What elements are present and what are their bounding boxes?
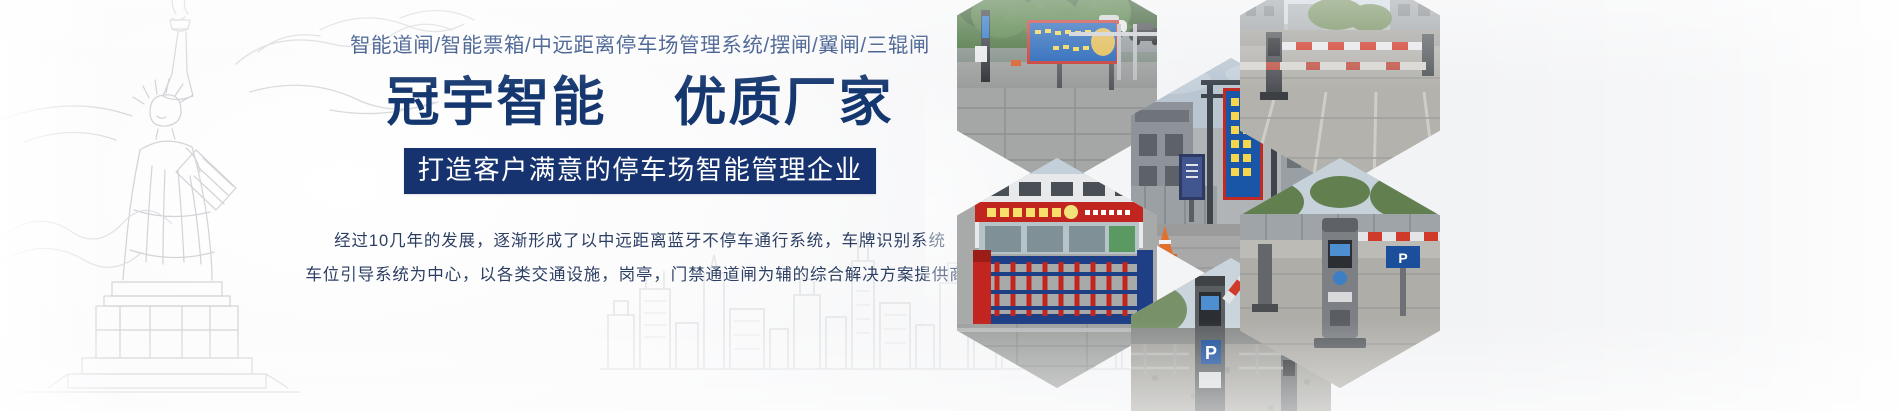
- banner-headline: 冠宇智能 优质厂家: [387, 75, 894, 131]
- banner-paragraph: 经过10几年的发展，逐渐形成了以中远距离蓝牙不停车通行系统，车牌识别系统 车位引…: [309, 225, 970, 292]
- banner-copy-block: 智能道闸/智能票箱/中远距离停车场管理系统/摆闸/翼闸/三辊闸 冠宇智能 优质厂…: [330, 34, 950, 314]
- paragraph-line-1: 经过10几年的发展，逐渐形成了以中远距离蓝牙不停车通行系统，车牌识别系统: [309, 225, 970, 258]
- hexagon-photo-collage: P: [935, 0, 1455, 411]
- svg-text:P: P: [1398, 250, 1407, 266]
- paragraph-line-2: 车位引导系统为中心，以各类交通设施，岗亭，门禁通道闸为辅的综合解决方案提供商: [305, 259, 966, 292]
- right-edge-fade: [1460, 0, 1900, 411]
- banner-eyebrow: 智能道闸/智能票箱/中远距离停车场管理系统/摆闸/翼闸/三辊闸: [350, 34, 930, 59]
- photo-guard-booth-red-blue: [957, 158, 1157, 388]
- headline-secondary: 优质厂家: [673, 72, 893, 133]
- headline-primary: 冠宇智能: [387, 72, 607, 133]
- banner-tagline-bar: 打造客户满意的停车场智能管理企业: [404, 148, 877, 195]
- svg-text:P: P: [1205, 343, 1217, 363]
- collage-hex-photo-guard-booth-red-blue[interactable]: [957, 158, 1157, 388]
- promo-banner: 智能道闸/智能票箱/中远距离停车场管理系统/摆闸/翼闸/三辊闸 冠宇智能 优质厂…: [0, 0, 1900, 411]
